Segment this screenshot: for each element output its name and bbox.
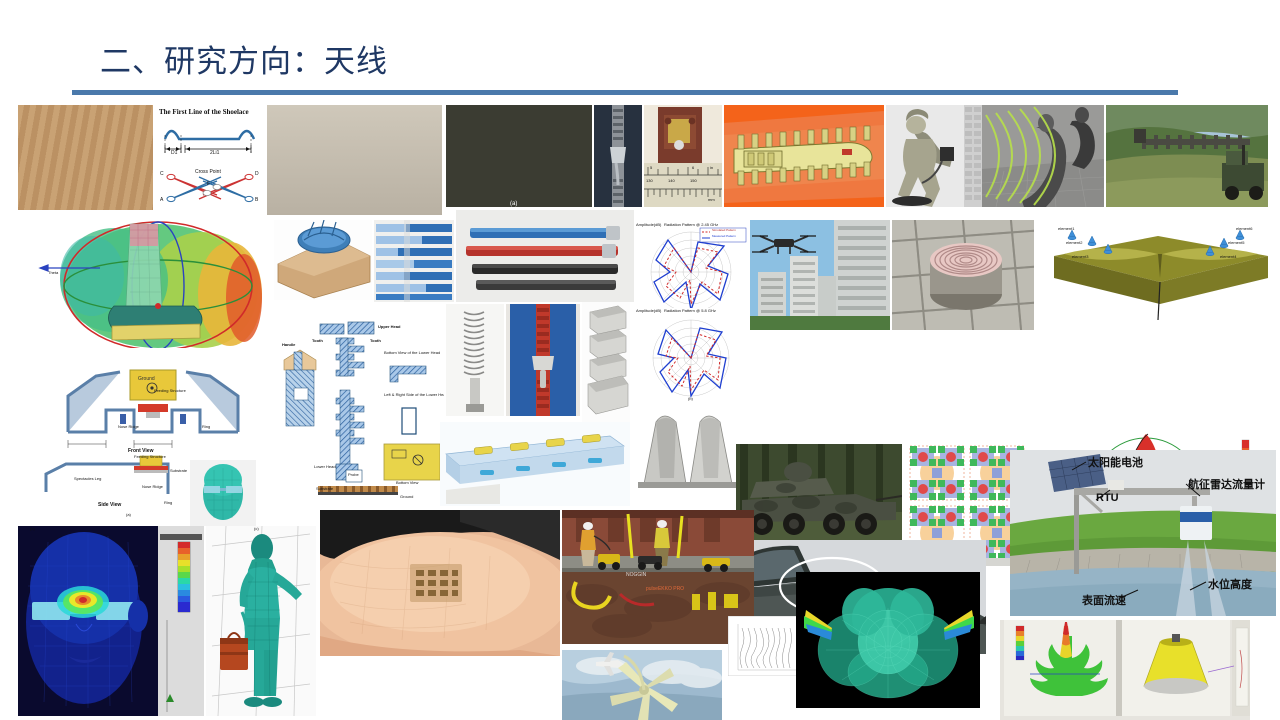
label-c: C [160,171,164,177]
label-water-level: 水位高度 [1208,576,1252,592]
polar-title: Radiation Pattern @ 2.45 GHz [664,222,718,227]
ruler-tick-5: 5 [650,165,652,170]
label-element4: element4 [1220,254,1236,259]
label-handle: Handle [282,342,295,347]
shoe-cad-model [274,220,372,300]
field-antenna-truck-photo [1106,105,1268,207]
ruler-unit-mm: mm [708,197,715,202]
label-rtu: RTU [1096,492,1119,504]
label-element5: element5 [1228,240,1244,245]
label-upper-head: Upper Head [378,324,400,329]
cst-horn-simulation-photo [1000,620,1250,720]
label-pulseekko: pulseEKKO PRO [646,586,684,592]
slide-canvas: 二、研究方向：天线 [0,0,1280,720]
polar2-ylabel: Amplitude(dB) [636,308,661,313]
radiation-pattern-polar-bottom: Amplitude(dB) Radiation Pattern @ 5.8 GH… [634,308,748,404]
body-model-briefcase: (c) [206,526,316,716]
label-nose-ridge-side: Nose Ridge [142,484,163,489]
polar2-title: Radiation Pattern @ 5.8 GHz [664,308,716,313]
ruler-140: 140 [668,178,675,183]
lab-workstation-photo [267,105,442,215]
red-zipper-photo [506,304,580,416]
label-b: B [255,197,258,203]
colored-zipper-samples-photo [456,210,634,302]
skin-patch-antenna-photo [320,510,560,656]
through-wall-radar-soldier [886,105,1104,207]
label-2li1: 2Li1 [210,150,219,156]
title-underline [72,90,1178,95]
head-mesh-model [190,460,256,526]
label-element6: element6 [1236,226,1252,231]
shoelace-antenna-photo [18,105,153,210]
jacket-caption: (a) [510,201,517,207]
ruler-unit-in: in [710,165,713,170]
label-probe: Probe [348,472,359,477]
label-a: A [160,197,163,203]
zipper-antenna-schematic: Upper Head Tooth Tooth Handle Lower Head… [274,304,444,518]
shoe-radiation-pattern-hfss: Theta [34,220,272,360]
multibeam-pattern-3d [796,572,980,708]
label-d1: D1 [171,150,177,156]
jacket-zipper-antenna-photo: (a) [446,105,592,207]
radiation-pattern-polar-top: Amplitude(dB) Radiation Pattern @ 2.45 G… [634,220,748,320]
ruler-130: 130 [646,178,653,183]
polar-caption-b: (b) [688,396,693,401]
label-element2: element2 [1066,240,1082,245]
label-element3: element3 [1072,254,1088,259]
gpr-radargram [728,616,804,676]
polar-legend-simulated: Simulated Pattern [712,228,736,232]
label-nose-ridge: Nose Ridge [118,424,139,429]
windmill-antenna-render [562,650,722,720]
label-left-right-side: Left & Right Side of the Lower Head [384,392,444,397]
ruler-tick-6: 6 [692,165,694,170]
zipper-closeup-photo [594,105,642,207]
glasses-caption-a: (a) [126,512,131,517]
polar-legend-measured: Measured Pattern [712,234,736,238]
label-d: D [255,171,259,177]
flexible-substrate-strips-photo [374,220,454,302]
label-theta: Theta [48,270,58,275]
label-tooth-left: Tooth [312,338,323,343]
eyeglasses-antenna-schematic: Ground Feeding Structure Nose Ridge Ring… [34,348,272,460]
pcb-antenna-ruler-photo: 5 6 in 130 140 150 mm [644,105,722,207]
label-side-view: Side View [98,502,121,508]
label-feeding-structure: Feeding Structure [154,388,186,393]
shoelace-diagram-title: The First Line of the Shoelace [159,108,249,116]
conformal-array-strip-sim [440,422,630,506]
label-bottom-view-lower: Bottom View of the Lower Head [384,350,440,355]
page-title: 二、研究方向：天线 [100,36,388,81]
sar-head-simulation: (b) [18,526,204,716]
label-tooth-right: Tooth [370,338,381,343]
connector-cad-stack [582,302,630,424]
label-feeding-structure-side: Feeding Structure [134,454,166,459]
label-cross-point: Cross Point [195,169,221,175]
label-ring-side: Ring [164,500,172,505]
label-substrate: Substrate [316,486,333,491]
label-substrate-side: Substrate [170,468,187,473]
label-radar-flowmeter: 航征雷达流量计 [1188,476,1265,492]
label-bottom-view: Bottom View [396,480,418,485]
body-caption-c: (c) [254,526,259,531]
zipper-cad-render [724,105,884,207]
label-lower-head: Lower Head [314,464,336,469]
label-noggin: NOGGIN [626,572,646,578]
label-ground: Ground [400,494,413,499]
svg-text:Ground: Ground [138,376,155,382]
label-solar-cell: 太阳能电池 [1088,454,1143,470]
label-surface-velocity: 表面流速 [1082,592,1126,608]
polar-ylabel: Amplitude(dB) [636,222,661,227]
spiral-antenna-puck-photo [892,220,1034,330]
label-spectacles-leg: Spectacles Leg [74,476,101,481]
sar-caption-b: (b) [30,526,35,531]
drone-city-photo [750,220,890,330]
armored-vehicle-photo [736,444,904,540]
ruler-150: 150 [690,178,697,183]
gpr-survey-photo: NOGGIN pulseEKKO PRO [562,510,754,644]
image-collage: The First Line of the Shoelace [0,104,1280,720]
hydrology-monitoring-render: 太阳能电池 RTU 航征雷达流量计 水位高度 表面流速 [1010,450,1276,616]
shoelace-diagram: The First Line of the Shoelace [155,105,265,210]
label-f: F [207,181,210,187]
label-element1: element1 [1058,226,1074,231]
array-elements-cad: element1 element2 element3 element6 elem… [1040,220,1280,320]
horn-pair-cad [634,408,744,488]
label-ring: Ring [202,424,210,429]
coil-spring-antenna-photo [446,304,504,416]
